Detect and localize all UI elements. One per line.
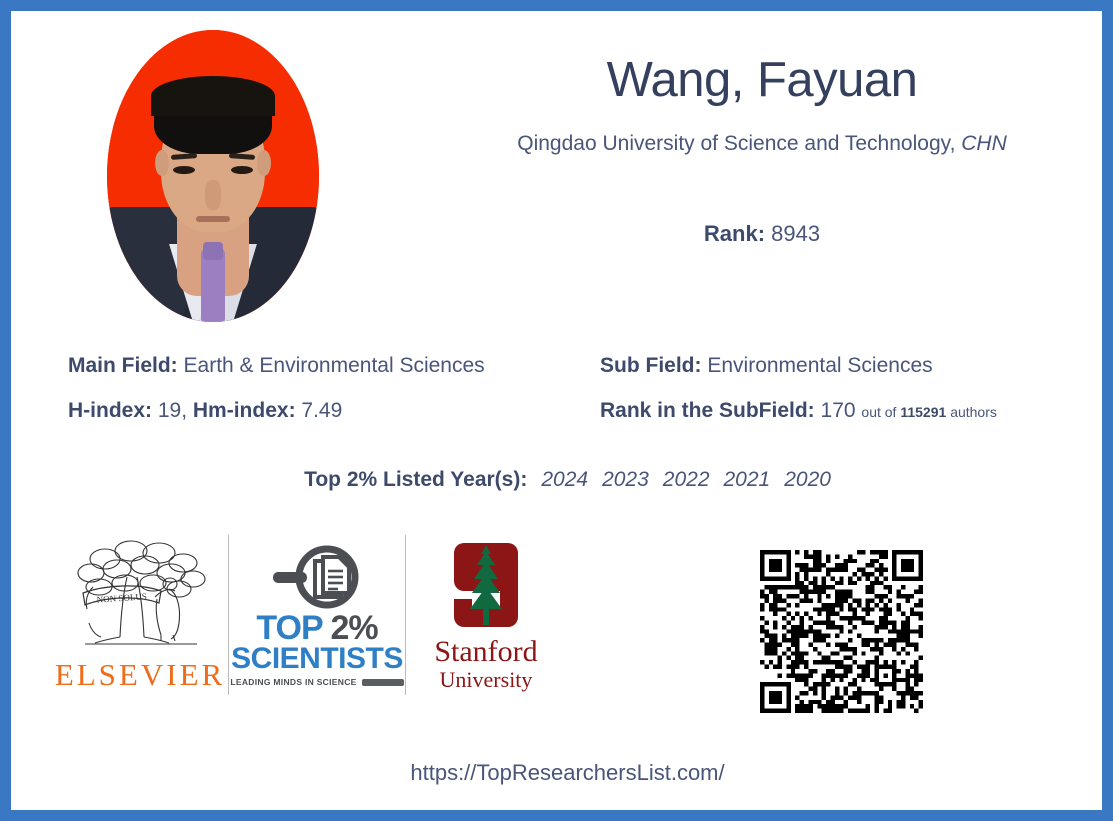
rank-subfield-suffix: out of 115291 authors xyxy=(861,404,996,420)
researcher-photo xyxy=(107,30,319,322)
rank-subfield-label: Rank in the SubField: xyxy=(600,399,815,422)
qr-code-canvas[interactable] xyxy=(760,550,923,713)
overall-rank: Rank: 8943 xyxy=(452,221,1072,247)
site-url[interactable]: https://TopResearchersList.com/ xyxy=(22,760,1102,786)
stanford-university-word: University xyxy=(440,667,533,693)
sub-field-row: Sub Field: Environmental Sciences xyxy=(600,354,933,378)
affiliation-institution: Qingdao University of Science and Techno… xyxy=(517,132,955,155)
elsevier-motto: NON SOLUS xyxy=(96,591,147,604)
ear-left xyxy=(155,150,169,176)
elsevier-wordmark: ELSEVIER xyxy=(55,657,225,693)
top2-year: 2020 xyxy=(784,468,831,491)
affiliation: Qingdao University of Science and Techno… xyxy=(422,132,1102,156)
total-authors-count: 115291 xyxy=(900,404,946,420)
rank-subfield-value: 170 xyxy=(821,399,856,422)
elsevier-tree-icon: NON SOLUS xyxy=(65,537,215,655)
top2-year: 2024 xyxy=(541,468,588,491)
top2-years-label: Top 2% Listed Year(s): xyxy=(304,468,527,491)
eye-right xyxy=(231,166,253,174)
mouth xyxy=(196,216,230,222)
top2-year: 2022 xyxy=(663,468,710,491)
necktie-knot xyxy=(203,242,223,260)
main-field-row: Main Field: Earth & Environmental Scienc… xyxy=(68,354,485,378)
top-2-percent-scientists-logo: TOP 2% SCIENTISTS LEADING MINDS IN SCIEN… xyxy=(229,543,405,687)
main-field-value: Earth & Environmental Sciences xyxy=(184,354,485,377)
top2-year: 2023 xyxy=(602,468,649,491)
hm-index-value: 7.49 xyxy=(301,399,342,422)
researcher-name: Wang, Fayuan xyxy=(452,52,1072,108)
top2-year: 2021 xyxy=(724,468,771,491)
hm-index-label: Hm-index: xyxy=(193,399,296,422)
stanford-s-tree-icon xyxy=(438,537,534,633)
out-of-text: out of xyxy=(861,404,896,420)
elsevier-logo: NON SOLUS ELSEVIER xyxy=(52,537,228,693)
avatar xyxy=(107,30,319,322)
rank-value: 8943 xyxy=(771,221,820,246)
qr-code[interactable] xyxy=(760,550,923,713)
stanford-wordmark: Stanford xyxy=(434,637,537,668)
top2-word-scientists: SCIENTISTS xyxy=(231,644,403,674)
affiliation-country: CHN xyxy=(961,132,1007,155)
top2-tagline-row: LEADING MINDS IN SCIENCE xyxy=(230,677,403,687)
sub-field-label: Sub Field: xyxy=(600,354,702,377)
rank-in-subfield-row: Rank in the SubField: 170 out of 115291 … xyxy=(600,399,997,423)
eye-left xyxy=(173,166,195,174)
magnifier-document-icon xyxy=(261,543,373,613)
h-index-label: H-index: xyxy=(68,399,152,422)
main-field-label: Main Field: xyxy=(68,354,178,377)
nose xyxy=(205,180,221,210)
hair-top xyxy=(151,76,275,116)
rank-label: Rank: xyxy=(704,221,765,246)
tagline-bar xyxy=(362,679,404,686)
top2-headline: TOP 2% xyxy=(256,613,377,644)
logo-strip: NON SOLUS ELSEVIER TOP xyxy=(52,519,572,711)
h-index-row: H-index: 19, Hm-index: 7.49 xyxy=(68,399,342,423)
top2-listed-years: Top 2% Listed Year(s):202420232022202120… xyxy=(22,468,1102,492)
researcher-profile-card: Wang, Fayuan Qingdao University of Scien… xyxy=(0,0,1113,821)
sub-field-value: Environmental Sciences xyxy=(707,354,932,377)
authors-text: authors xyxy=(950,404,997,420)
top2-tagline: LEADING MINDS IN SCIENCE xyxy=(230,677,356,687)
card-inner: Wang, Fayuan Qingdao University of Scien… xyxy=(11,11,1102,810)
stanford-logo: Stanford University xyxy=(406,537,566,694)
h-index-value: 19, xyxy=(158,399,187,422)
ear-right xyxy=(257,150,271,176)
